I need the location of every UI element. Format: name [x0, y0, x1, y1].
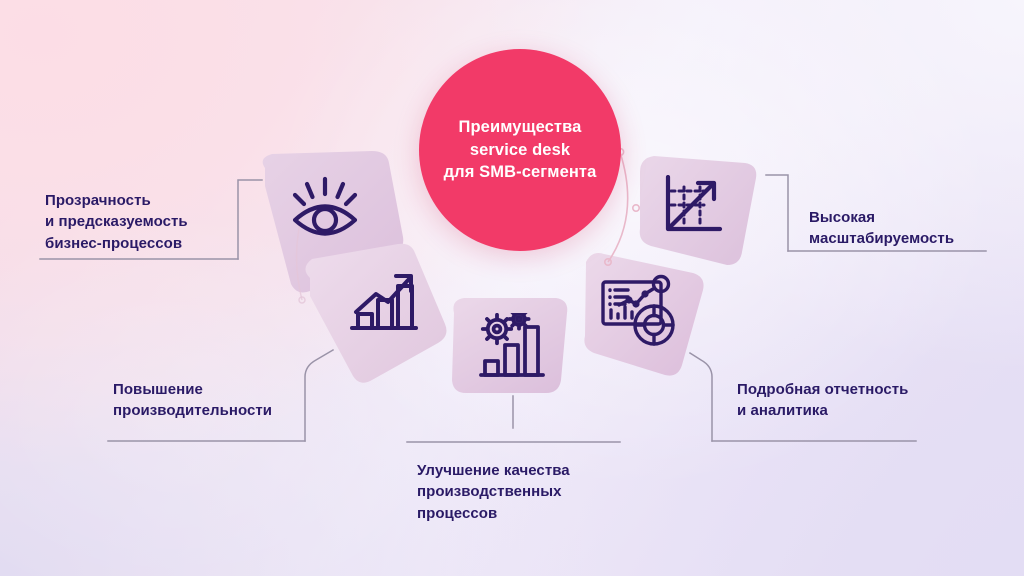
center-title: Преимущества service desk для SMB-сегмен…: [432, 116, 609, 184]
gears-bar-chart-icon: [479, 313, 545, 381]
infographic-canvas: Преимущества service desk для SMB-сегмен…: [0, 0, 1024, 576]
label-scalability: Высокая масштабируемость: [809, 207, 954, 250]
label-reporting: Подробная отчетность и аналитика: [737, 379, 908, 422]
eye-icon: [289, 175, 361, 245]
center-circle[interactable]: Преимущества service desk для SMB-сегмен…: [419, 49, 621, 251]
growth-bar-chart-icon: [350, 266, 420, 334]
scaling-graph-icon: [662, 175, 724, 235]
connector-scalability: [766, 175, 788, 251]
label-quality: Улучшение качества производственных проц…: [417, 460, 570, 524]
analytics-dashboard-icon: [601, 272, 679, 348]
connector-reporting: [690, 353, 712, 441]
connector-transparency: [238, 180, 262, 259]
connector-productivity: [305, 350, 333, 441]
label-productivity: Повышение производительности: [113, 379, 272, 422]
label-transparency: Прозрачность и предсказуемость бизнес-пр…: [45, 190, 188, 254]
